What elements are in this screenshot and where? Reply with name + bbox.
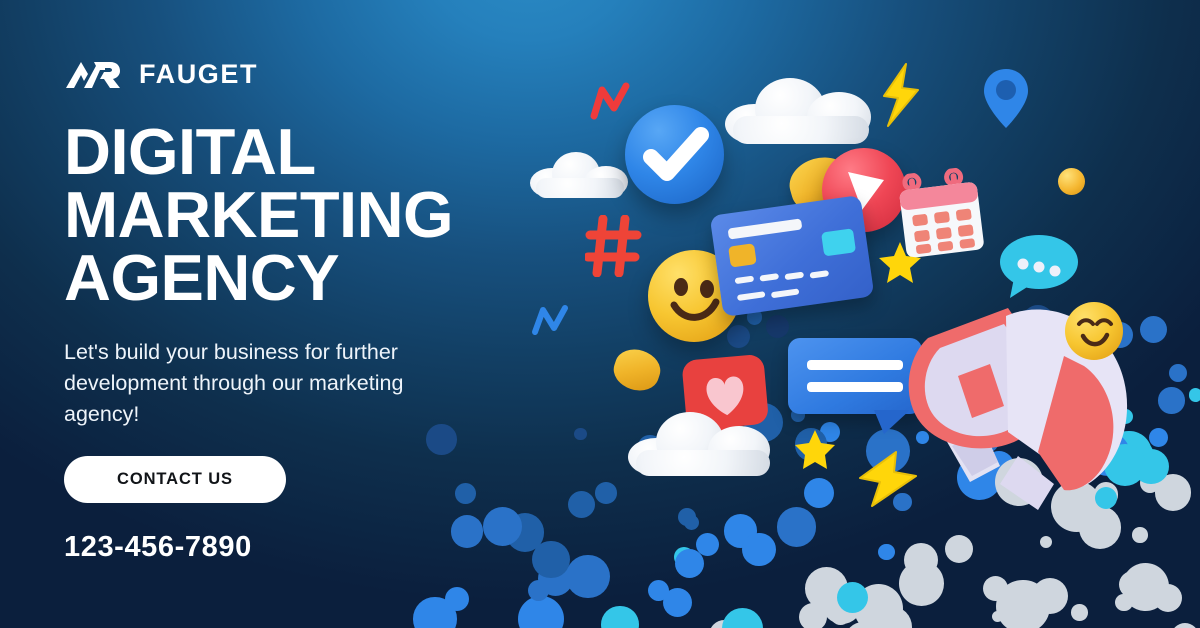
cloud-icon (725, 78, 877, 144)
location-pin-icon (982, 66, 1030, 132)
credit-card-icon (710, 195, 875, 317)
decorative-dot (413, 597, 456, 628)
lightning-bolt-icon (876, 62, 928, 128)
page-title: DIGITAL MARKETING AGENCY (64, 120, 534, 309)
star-icon (878, 240, 922, 284)
check-circle-icon (625, 105, 724, 204)
subheadline-text: Let's build your business for further de… (64, 337, 434, 430)
contact-us-button[interactable]: CONTACT US (64, 456, 286, 503)
ar-monogram-icon (64, 57, 122, 91)
star-icon (794, 428, 836, 470)
lightning-bolt-icon (850, 448, 922, 510)
gold-coin-icon (609, 344, 665, 396)
hashtag-icon (585, 215, 643, 277)
headline-line-2: MARKETING (64, 183, 534, 246)
cloud-icon (628, 412, 778, 476)
content-column: FAUGET DIGITAL MARKETING AGENCY Let's bu… (64, 54, 534, 564)
yellow-sphere-icon (1058, 168, 1085, 195)
brand-lockup: FAUGET (64, 54, 534, 94)
marketing-banner: FAUGET DIGITAL MARKETING AGENCY Let's bu… (0, 0, 1200, 628)
illustration-cluster (520, 0, 1200, 628)
brand-name: FAUGET (139, 59, 258, 90)
phone-number: 123-456-7890 (64, 531, 534, 564)
headline-line-3: AGENCY (64, 246, 534, 309)
blushing-smiley-icon (1065, 302, 1123, 360)
headline-line-1: DIGITAL (64, 120, 534, 183)
cloud-icon (530, 150, 630, 198)
blue-squiggle-icon (530, 300, 582, 342)
